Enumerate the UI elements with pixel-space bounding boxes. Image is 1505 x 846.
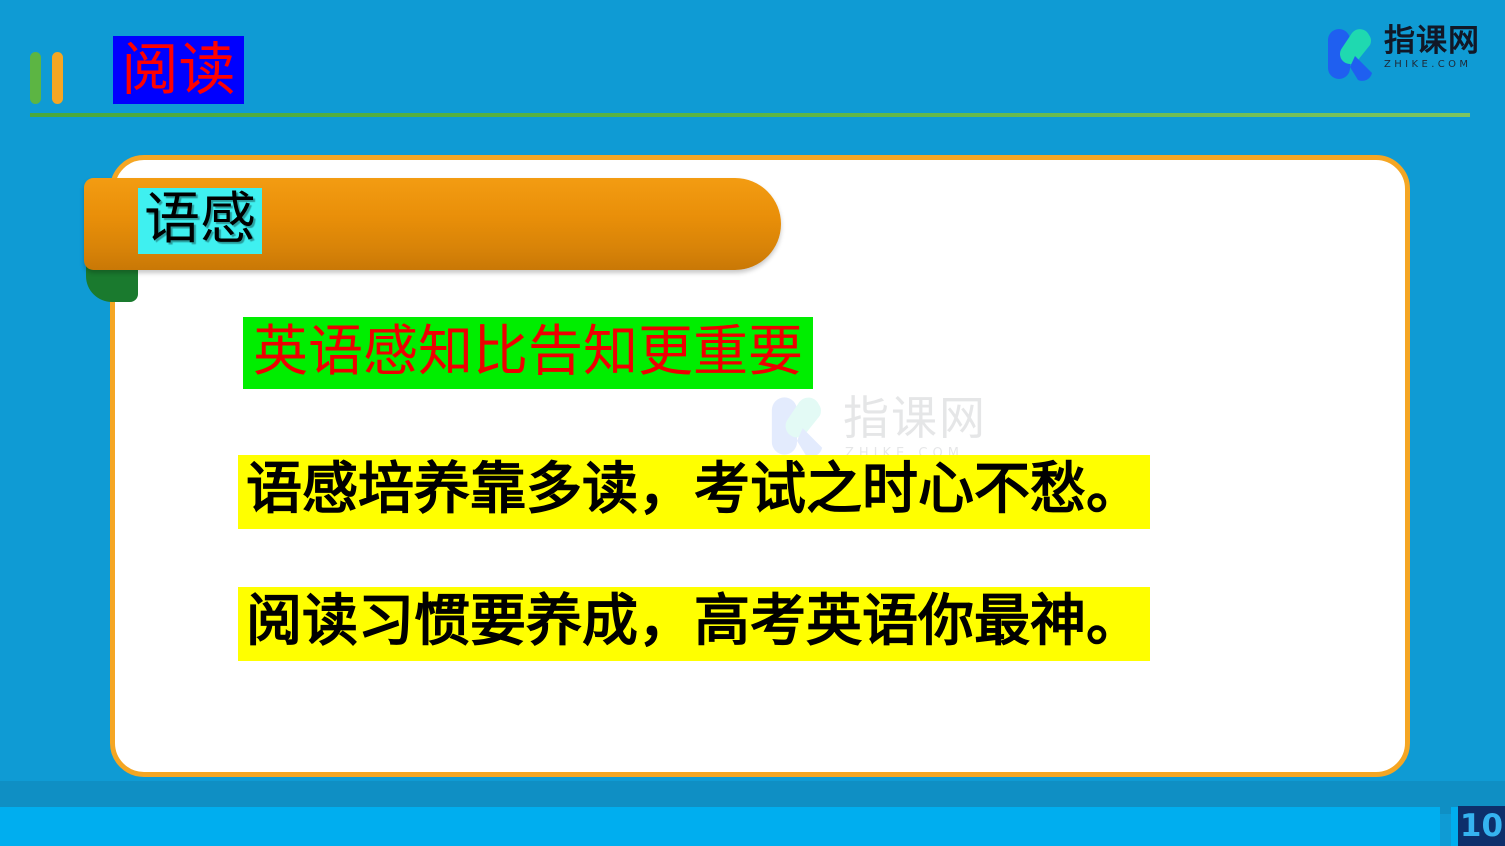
brand-logo: 指课网 ZHIKE.COM <box>1322 22 1492 84</box>
brand-text: 指课网 ZHIKE.COM <box>1384 24 1494 72</box>
brand-name-label: 指课网 <box>1384 24 1494 58</box>
page-number-badge: 10 <box>1458 806 1505 846</box>
page-number-label: 10 <box>1460 809 1503 843</box>
zhike-k-mark-icon <box>1322 26 1378 82</box>
content-line-highlighted-yellow-1: 语感培养靠多读，考试之时心不愁。 <box>238 455 1150 529</box>
header-accent-bars <box>30 52 70 104</box>
content-line-1-text: 英语感知比告知更重要 <box>253 319 803 383</box>
header-divider <box>30 113 1470 117</box>
content-line-highlighted-green: 英语感知比告知更重要 <box>243 317 813 389</box>
brand-domain-label: ZHIKE.COM <box>1384 58 1494 72</box>
content-line-3-text: 阅读习惯要养成，高考英语你最神。 <box>246 589 1142 654</box>
section-ribbon-label: 语感 <box>138 188 262 254</box>
page-title: 阅读 <box>113 36 244 104</box>
content-line-highlighted-yellow-2: 阅读习惯要养成，高考英语你最神。 <box>238 587 1150 661</box>
content-line-2-text: 语感培养靠多读，考试之时心不愁。 <box>246 457 1142 522</box>
accent-bar-orange-icon <box>52 52 63 104</box>
section-ribbon-label-text: 语感 <box>144 187 256 252</box>
accent-bar-green-icon <box>30 52 41 104</box>
bottom-band-light <box>0 807 1440 846</box>
slide-canvas: 阅读 指课网 ZHIKE.COM 语感 指 <box>0 0 1505 846</box>
page-title-label: 阅读 <box>122 42 236 99</box>
